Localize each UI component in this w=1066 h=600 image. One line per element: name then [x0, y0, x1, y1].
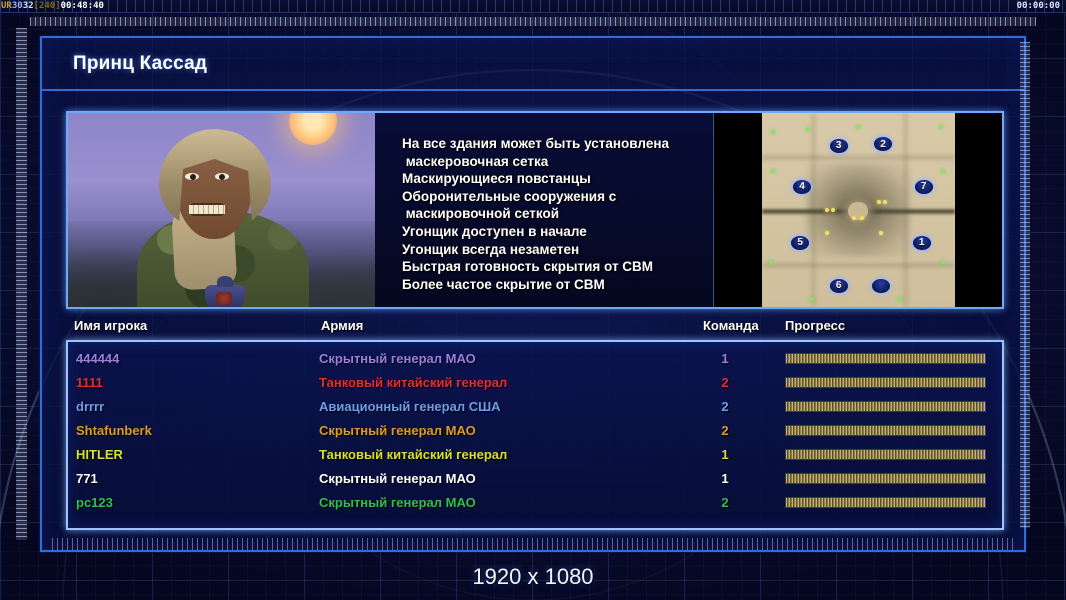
progress-fill: [786, 402, 985, 411]
player-name: pc123: [76, 495, 113, 510]
description-line: На все здания может быть установлена: [402, 135, 703, 153]
player-army: Скрытный генерал МАО: [319, 471, 476, 486]
hud-left-readout: UR3032[240]00:48:40: [1, 0, 104, 13]
minimap-resource-dot: [806, 127, 810, 131]
lantern-glow: [216, 292, 232, 305]
minimap-start-position[interactable]: 4: [792, 179, 812, 195]
minimap-resource-dot: [771, 130, 775, 134]
minimap-resource-dot: [883, 200, 887, 204]
progress-fill: [786, 354, 985, 363]
main-panel: Принц Кассад: [40, 36, 1026, 552]
page-title: Принц Кассад: [73, 53, 207, 75]
minimap-resource-dot: [860, 216, 864, 220]
table-row: 771Скрытный генерал МАО1: [68, 466, 1002, 490]
description-line: Маскирующиеся повстанцы: [402, 170, 703, 188]
player-army: Скрытный генерал МАО: [319, 423, 476, 438]
minimap-container: 3247516: [713, 113, 1002, 307]
player-army: Танковый китайский генерал: [319, 375, 507, 390]
minimap-resource-dot: [825, 231, 829, 235]
minimap-terrain-band: [762, 156, 955, 159]
top-status-bar: UR3032[240]00:48:40 00:00:00: [0, 0, 1066, 13]
minimap-start-position[interactable]: 2: [873, 136, 893, 152]
player-table: 444444Скрытный генерал МАО11111Танковый …: [66, 340, 1004, 530]
description-line: маскировочной сеткой: [402, 205, 703, 223]
general-figure: [127, 127, 317, 307]
column-header-player-name: Имя игрока: [74, 318, 147, 333]
minimap-resource-dot: [769, 260, 773, 264]
table-row: 1111Танковый китайский генерал2: [68, 370, 1002, 394]
hud-elapsed-timer: 00:48:40: [61, 1, 104, 11]
player-team: 1: [714, 471, 736, 486]
ruler-left: [16, 28, 27, 540]
description-line: маскеровочная сетка: [402, 153, 703, 171]
table-row: drrrrАвиационный генерал США2: [68, 394, 1002, 418]
player-name: HITLER: [76, 447, 123, 462]
general-info-box: На все здания может быть установлена мас…: [66, 111, 1004, 309]
minimap-resource-dot: [939, 125, 943, 129]
player-army: Авиационный генерал США: [319, 399, 501, 414]
minimap: 3247516: [762, 113, 955, 307]
description-line: Оборонительные сооружения с: [402, 188, 703, 206]
minimap-start-position[interactable]: [871, 278, 891, 294]
description-line: Угонщик доступен в начале: [402, 223, 703, 241]
progress-fill: [786, 474, 985, 483]
player-team: 2: [714, 423, 736, 438]
figure-lantern: [205, 285, 245, 307]
minimap-terrain-band: [762, 264, 955, 267]
player-army: Скрытный генерал МАО: [319, 495, 476, 510]
hud-value-b: 32: [23, 1, 34, 11]
player-army: Скрытный генерал МАО: [319, 351, 476, 366]
minimap-resource-dot: [877, 200, 881, 204]
player-name: 1111: [76, 375, 103, 390]
player-team: 2: [714, 495, 736, 510]
player-team: 1: [714, 447, 736, 462]
player-table-header: Имя игрока Армия Команда Прогресс: [66, 318, 1004, 340]
progress-fill: [786, 498, 985, 507]
minimap-resource-dot: [825, 208, 829, 212]
column-header-army: Армия: [321, 318, 363, 333]
player-progress-bar: [785, 401, 986, 412]
player-progress-bar: [785, 377, 986, 388]
progress-fill: [786, 426, 985, 435]
minimap-resource-dot: [852, 216, 856, 220]
player-name: 771: [76, 471, 98, 486]
ruler-top: [30, 17, 1036, 26]
minimap-resource-dot: [941, 169, 945, 173]
player-progress-bar: [785, 473, 986, 484]
panel-title-bar: Принц Кассад: [42, 38, 1024, 91]
minimap-resource-dot: [898, 297, 902, 301]
topbar-tick-marks: [0, 0, 1066, 12]
player-team: 2: [714, 399, 736, 414]
player-team: 1: [714, 351, 736, 366]
minimap-resource-dot: [941, 260, 945, 264]
hud-right-timer: 00:00:00: [1017, 0, 1060, 13]
minimap-start-position[interactable]: 6: [829, 278, 849, 294]
table-row: pc123Скрытный генерал МАО2: [68, 490, 1002, 514]
hud-value-bracket: [240]: [34, 1, 61, 11]
player-progress-bar: [785, 497, 986, 508]
minimap-resource-dot: [810, 297, 814, 301]
description-line: Угонщик всегда незаметен: [402, 241, 703, 259]
progress-fill: [786, 450, 985, 459]
minimap-start-position[interactable]: 3: [829, 138, 849, 154]
minimap-resource-dot: [856, 125, 860, 129]
column-header-progress: Прогресс: [785, 318, 845, 333]
description-line: Быстрая готовность скрытия от СВМ: [402, 258, 703, 276]
loading-screen: UR3032[240]00:48:40 00:00:00 Принц Касса…: [0, 0, 1066, 600]
player-progress-bar: [785, 353, 986, 364]
player-name: 444444: [76, 351, 119, 366]
minimap-start-position[interactable]: 5: [790, 235, 810, 251]
resolution-label: 1920 x 1080: [0, 564, 1066, 590]
player-progress-bar: [785, 425, 986, 436]
player-name: drrrr: [76, 399, 104, 414]
minimap-resource-dot: [879, 231, 883, 235]
minimap-resource-dot: [831, 208, 835, 212]
player-team: 2: [714, 375, 736, 390]
player-name: Shtafunberk: [76, 423, 152, 438]
figure-mouth: [189, 203, 225, 216]
minimap-resource-dot: [771, 169, 775, 173]
figure-pupil-right: [219, 174, 225, 180]
player-army: Танковый китайский генерал: [319, 447, 507, 462]
description-line: Более частое скрытие от СВМ: [402, 276, 703, 294]
table-row: 444444Скрытный генерал МАО1: [68, 346, 1002, 370]
minimap-start-position[interactable]: 1: [912, 235, 932, 251]
column-header-team: Команда: [703, 318, 759, 333]
figure-pupil-left: [190, 174, 196, 180]
player-progress-bar: [785, 449, 986, 460]
hud-value-a: 30: [12, 1, 23, 11]
general-portrait: [68, 113, 375, 307]
minimap-start-position[interactable]: 7: [914, 179, 934, 195]
table-row: HITLERТанковый китайский генерал1: [68, 442, 1002, 466]
progress-fill: [786, 378, 985, 387]
general-description: На все здания может быть установлена мас…: [375, 113, 713, 307]
table-row: ShtafunberkСкрытный генерал МАО2: [68, 418, 1002, 442]
hud-label-ur: UR: [1, 1, 12, 11]
